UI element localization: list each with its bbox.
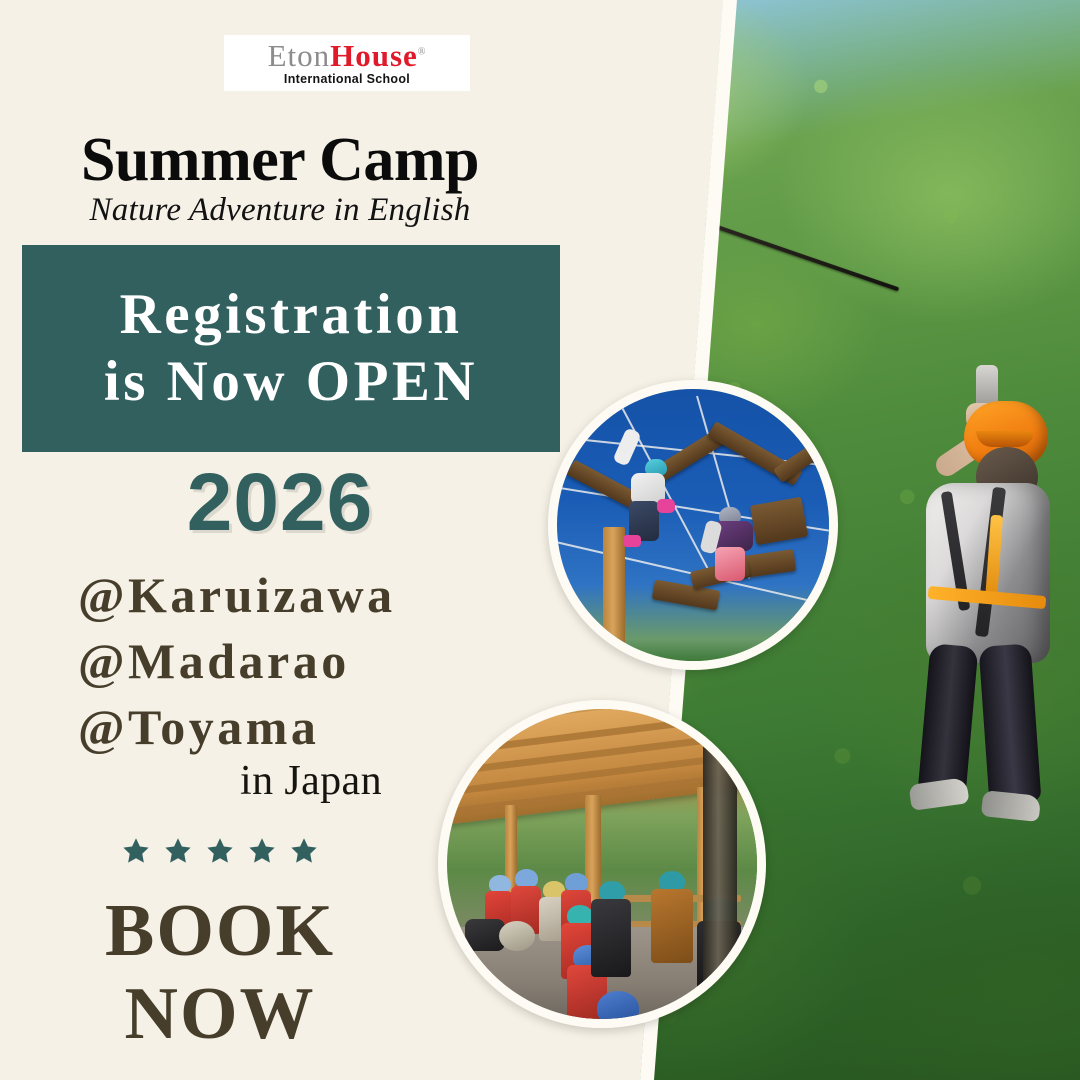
- camp-year: 2026: [0, 462, 560, 544]
- etonhouse-logo: EtonHouse® International School: [224, 35, 470, 91]
- inset-photo-ropes-course: [548, 380, 838, 670]
- star-icon: [289, 836, 319, 866]
- poster-canvas: EtonHouse® International School Summer C…: [0, 0, 1080, 1080]
- page-title: Summer Camp: [0, 128, 560, 193]
- logo-wordmark: EtonHouse®: [268, 40, 427, 71]
- logo-house-text: House: [330, 38, 418, 73]
- banner-line-1: Registration: [120, 282, 463, 348]
- star-icon: [163, 836, 193, 866]
- star-icon: [205, 836, 235, 866]
- zipline-rider: [880, 395, 1070, 815]
- registered-trademark-icon: ®: [418, 47, 427, 58]
- logo-subtitle: International School: [284, 72, 410, 86]
- book-now-cta[interactable]: BOOK NOW: [0, 890, 440, 1056]
- rider-leg-left: [918, 643, 979, 797]
- country-label: in Japan: [0, 757, 382, 805]
- registration-banner: Registration is Now OPEN: [22, 245, 560, 452]
- cta-line-2: NOW: [0, 973, 440, 1056]
- star-rating: [0, 836, 440, 866]
- cta-line-1: BOOK: [0, 890, 440, 973]
- page-subtitle: Nature Adventure in English: [0, 192, 560, 229]
- star-icon: [121, 836, 151, 866]
- location-item-karuizawa: @Karuizawa: [78, 562, 558, 628]
- rider-leg-right: [979, 643, 1042, 804]
- location-item-madarao: @Madarao: [78, 628, 558, 694]
- banner-line-2: is Now OPEN: [104, 349, 478, 415]
- logo-eton-text: Eton: [268, 38, 331, 73]
- inset-photo-group-platform: [438, 700, 766, 1028]
- foreground-tree: [703, 709, 737, 1019]
- star-icon: [247, 836, 277, 866]
